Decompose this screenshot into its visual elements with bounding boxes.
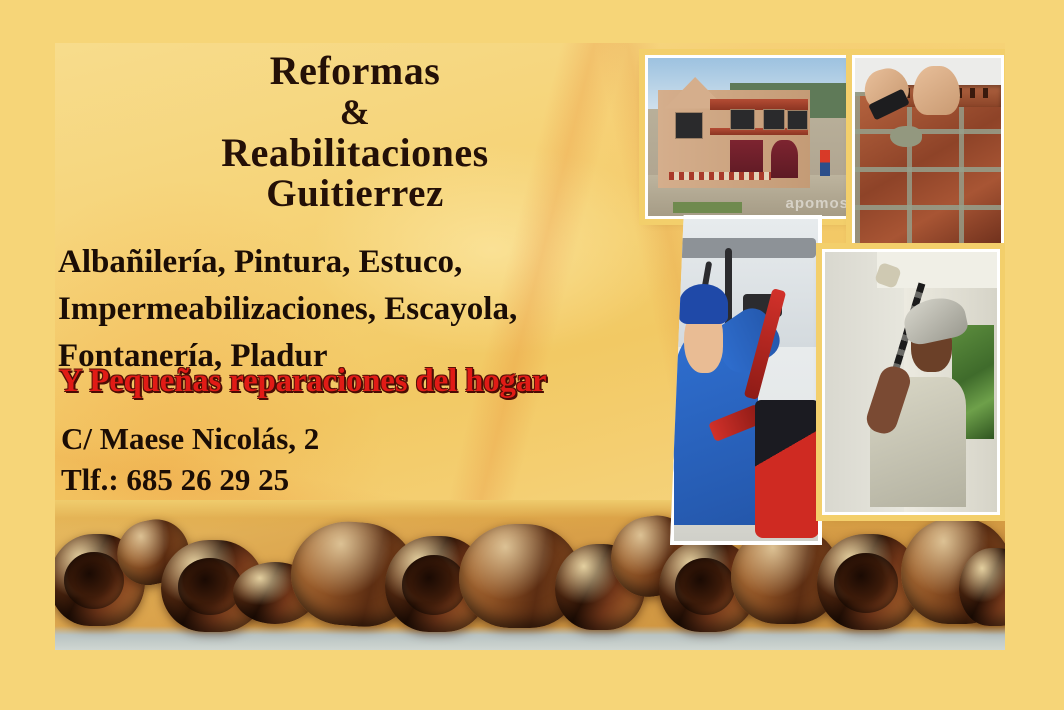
house-window <box>763 109 786 130</box>
wood-shavings-band <box>55 500 1005 650</box>
person-figure <box>820 150 830 177</box>
photo-frame <box>670 215 822 545</box>
highlight-tagline: Y Pequeñas reparaciones del hogar <box>59 363 670 400</box>
mason-hand <box>913 66 960 115</box>
services-list: Albañilería, Pintura, Estuco, Impermeabi… <box>58 239 658 380</box>
house-entrance-door <box>771 140 798 178</box>
service-line-2: Impermeabilizaciones, Escayola, <box>58 286 658 333</box>
decorative-tile-strip <box>669 172 772 180</box>
house-window <box>787 110 807 129</box>
house-exterior-photo: apomos <box>648 58 853 216</box>
headline-ampersand: & <box>55 94 655 131</box>
flyer-content-panel: Reformas & Reabilitaciones Guitierrez Al… <box>55 43 1005 650</box>
contact-phone: Tlf.: 685 26 29 25 <box>61 459 621 500</box>
watermark-text: apomos <box>785 195 849 212</box>
bricklaying-photo <box>855 58 1001 248</box>
house-window <box>675 112 704 139</box>
contact-block: C/ Maese Nicolás, 2 Tlf.: 685 26 29 25 <box>61 418 621 500</box>
headline-block: Reformas & Reabilitaciones Guitierrez <box>55 51 655 214</box>
headline-line-3: Reabilitaciones <box>55 133 655 174</box>
plumber-photo <box>670 215 822 545</box>
house-window <box>730 109 755 130</box>
mortar-blob <box>890 126 922 147</box>
headline-company-name: Guitierrez <box>55 174 655 214</box>
service-line-1: Albañilería, Pintura, Estuco, <box>58 239 658 286</box>
painter-photo <box>825 252 997 512</box>
house-roof <box>710 99 808 110</box>
advertisement-flyer: Reformas & Reabilitaciones Guitierrez Al… <box>0 0 1064 710</box>
contact-address: C/ Maese Nicolás, 2 <box>61 418 621 459</box>
headline-line-1: Reformas <box>55 51 655 92</box>
grass-patch <box>673 202 743 213</box>
